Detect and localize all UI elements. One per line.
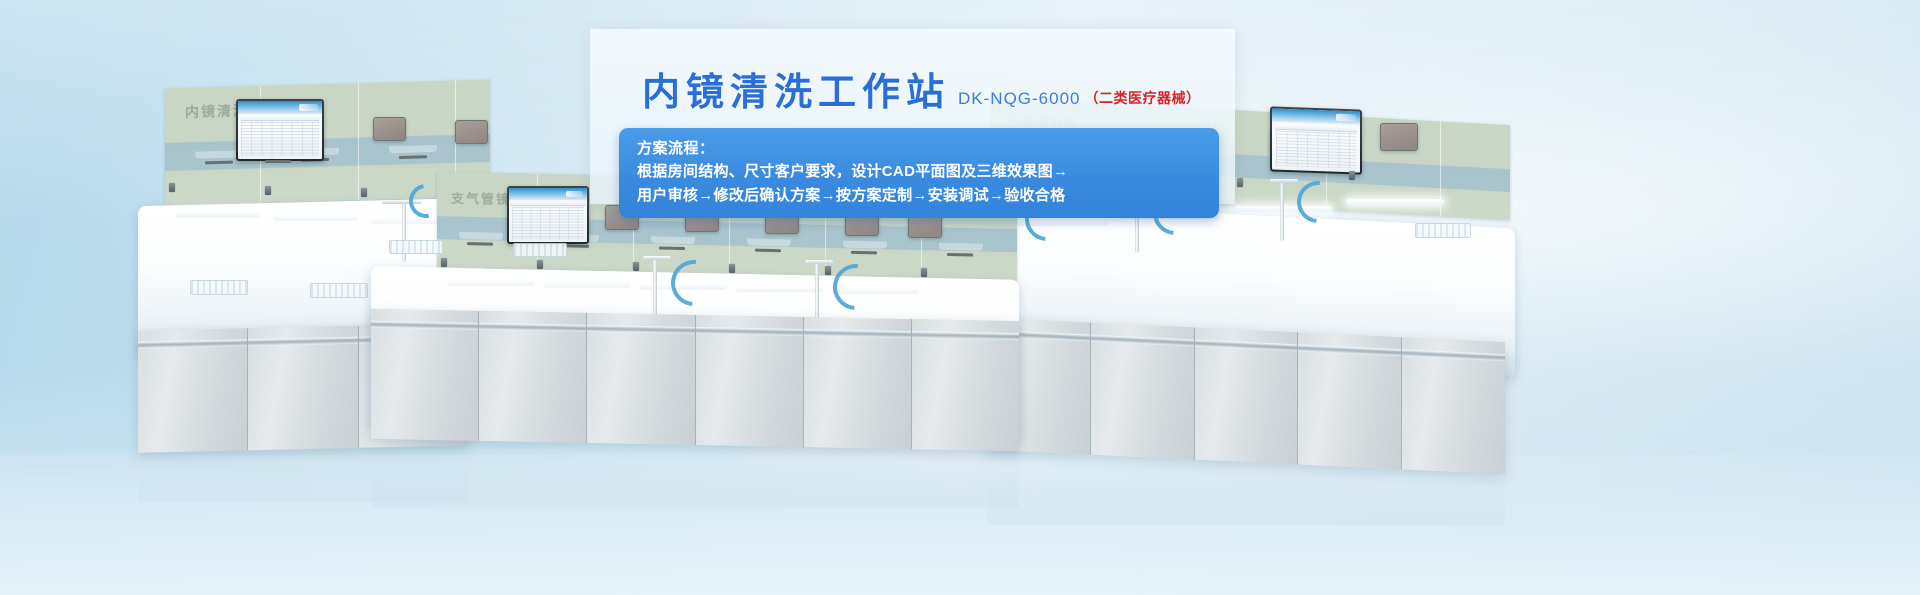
page-title: 内镜清洗工作站 bbox=[642, 74, 950, 112]
center-faucet-column-2[interactable] bbox=[815, 260, 819, 322]
certification-badge: （二类医疗器械） bbox=[1085, 88, 1201, 112]
left-drying-rack-1 bbox=[190, 280, 248, 295]
center-monitor-screen bbox=[509, 188, 587, 242]
center-floor-reflection bbox=[371, 446, 1019, 508]
left-monitor-screen bbox=[238, 101, 322, 159]
center-cabinet-door[interactable] bbox=[912, 319, 1019, 451]
center-sensor-4 bbox=[729, 264, 735, 273]
center-drying-rack-2 bbox=[513, 243, 567, 257]
left-drying-rack-2 bbox=[310, 283, 368, 298]
callout-heading: 方案流程： bbox=[637, 137, 1203, 160]
right-monitor-screen bbox=[1272, 108, 1360, 172]
left-sensor-1 bbox=[169, 183, 175, 192]
center-cabinets bbox=[371, 309, 1019, 451]
right-cabinet-door[interactable] bbox=[1298, 332, 1402, 469]
center-cabinet-door[interactable] bbox=[587, 313, 695, 445]
right-cabinet-door[interactable] bbox=[1195, 328, 1299, 465]
center-cabinet-door[interactable] bbox=[371, 309, 479, 441]
center-faucet-column-1[interactable] bbox=[653, 256, 657, 318]
right-faucet-arm-2 bbox=[1270, 179, 1298, 183]
center-sensor-5 bbox=[825, 266, 831, 275]
right-monitor[interactable] bbox=[1270, 106, 1362, 174]
left-light-strip-2 bbox=[273, 215, 358, 221]
left-cabinet-door[interactable] bbox=[248, 326, 358, 451]
callout-line-2: 用户审核→修改后确认方案→按方案定制→安装调试→验收合格 bbox=[637, 184, 1203, 207]
center-light-strip-2 bbox=[543, 282, 631, 288]
center-cabinet-door[interactable] bbox=[804, 317, 912, 449]
right-cabinets bbox=[987, 318, 1505, 474]
left-monitor[interactable] bbox=[236, 99, 324, 161]
center-drying-rack-1 bbox=[389, 240, 443, 254]
left-light-strip-1 bbox=[175, 212, 260, 218]
center-sensor-6 bbox=[921, 268, 927, 277]
right-cabinet-door[interactable] bbox=[1091, 323, 1195, 460]
left-cabinet-door[interactable] bbox=[138, 328, 248, 453]
left-sensor-2 bbox=[265, 186, 271, 195]
right-cabinet-door[interactable] bbox=[1402, 337, 1505, 474]
left-control-panel-2[interactable] bbox=[455, 120, 488, 144]
left-monitor-stand bbox=[265, 160, 291, 163]
right-floor-reflection bbox=[987, 463, 1505, 525]
center-faucet-arm-2 bbox=[805, 260, 833, 264]
center-light-strip-4 bbox=[735, 286, 823, 292]
banner-stage: 内镜清洗组 bbox=[0, 0, 1920, 595]
right-sensor-4 bbox=[1349, 171, 1355, 180]
center-faucet-arm-1 bbox=[643, 256, 671, 260]
center-sensor-1 bbox=[441, 258, 447, 267]
center-cabinet-door[interactable] bbox=[479, 311, 587, 443]
callout-line-1: 根据房间结构、尺寸客户要求，设计CAD平面图及三维效果图→ bbox=[637, 160, 1203, 183]
process-flow-callout: 方案流程： 根据房间结构、尺寸客户要求，设计CAD平面图及三维效果图→ 用户审核… bbox=[619, 128, 1219, 218]
product-model: DK-NQG-6000 bbox=[958, 89, 1080, 112]
right-sensor-3 bbox=[1237, 178, 1243, 187]
center-sensor-3 bbox=[633, 262, 639, 271]
center-monitor[interactable] bbox=[507, 186, 589, 244]
title-row: 内镜清洗工作站 DK-NQG-6000 （二类医疗器械） bbox=[642, 74, 1201, 112]
right-drying-rack bbox=[1415, 223, 1471, 238]
right-light-strip-4 bbox=[1346, 199, 1444, 205]
product-center: 支气管镜清洗组 bbox=[365, 178, 1025, 578]
left-control-panel-1[interactable] bbox=[373, 117, 406, 141]
right-faucet-column-2[interactable] bbox=[1280, 179, 1284, 241]
center-light-strip-1 bbox=[447, 280, 535, 286]
center-sensor-2 bbox=[537, 260, 543, 269]
center-cabinet-door[interactable] bbox=[696, 315, 804, 447]
right-control-panel-5[interactable] bbox=[1380, 123, 1418, 151]
